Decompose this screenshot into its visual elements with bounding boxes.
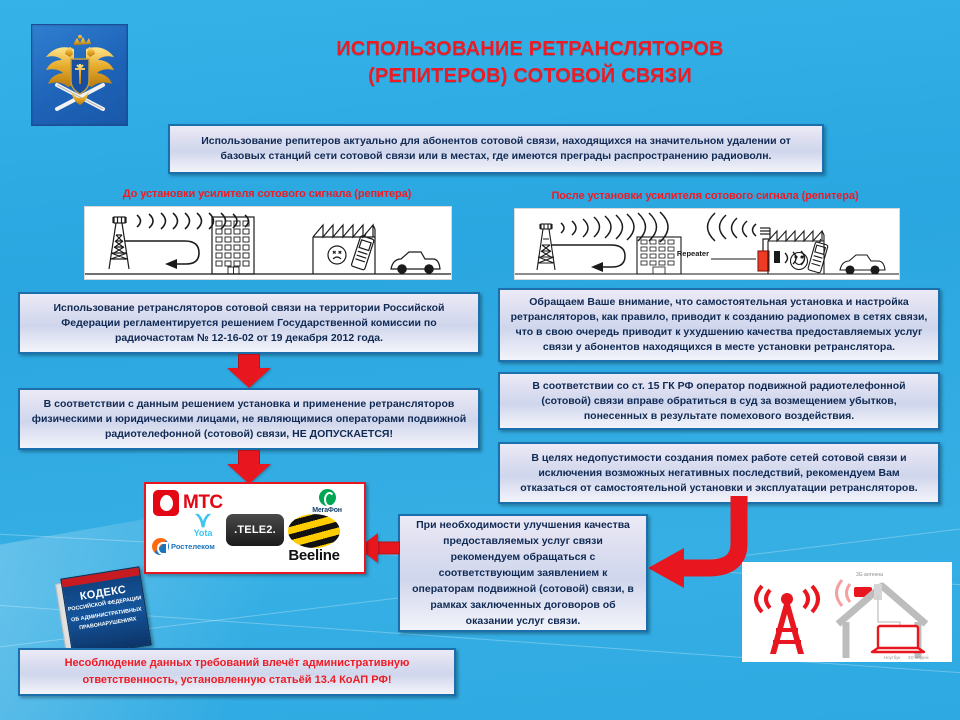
right-panel-recommendation-text: В целях недопустимости создания помех ра… — [509, 451, 929, 496]
administrative-code-book: КОДЕКС РОССИЙСКОЙ ФЕДЕРАЦИИ ОБ АДМИНИСТР… — [52, 570, 172, 652]
right-panel-interference: Обращаем Ваше внимание, что самостоятель… — [498, 288, 940, 362]
bottom-warning-text: Несоблюдение данных требований влечёт ад… — [29, 655, 445, 689]
rostelecom-label: Ростелеком — [171, 542, 215, 551]
right-panel-civil-code: В соответствии со ст. 15 ГК РФ оператор … — [498, 372, 940, 430]
middle-panel-advice: При необходимости улучшения качества пре… — [398, 514, 648, 632]
yota-mark-icon: ⋎ — [178, 512, 228, 528]
poster-canvas: ИСПОЛЬЗОВАНИЕ РЕТРАНСЛЯТОРОВ (РЕПИТЕРОВ)… — [0, 0, 960, 720]
page-title-line1: ИСПОЛЬЗОВАНИЕ РЕТРАНСЛЯТОРОВ — [200, 36, 860, 63]
megafon-label: МегаФон — [296, 507, 358, 514]
page-title-line2: (РЕПИТЕРОВ) СОТОВОЙ СВЯЗИ — [200, 63, 860, 90]
page-title: ИСПОЛЬЗОВАНИЕ РЕТРАНСЛЯТОРОВ (РЕПИТЕРОВ)… — [200, 36, 860, 90]
modem-label: 3G модем — [908, 655, 928, 660]
arrow-down-1 — [214, 354, 284, 388]
antenna-label: 3G антенна — [856, 572, 883, 578]
left-panel-regulation: Использование ретрансляторов сотовой свя… — [18, 292, 480, 354]
beeline-logo: Beeline — [268, 514, 360, 564]
intro-text: Использование репитеров актуально для аб… — [179, 134, 813, 164]
megafon-logo: МегаФон — [296, 489, 358, 514]
diagram-after-repeater: Repeater — [514, 208, 900, 280]
left-panel-prohibition-text: В соответствии с данным решением установ… — [29, 397, 469, 442]
repeater-label: Repeater — [677, 249, 709, 258]
yota-label: Yota — [178, 528, 228, 538]
left-panel-regulation-text: Использование ретрансляторов сотовой свя… — [29, 301, 469, 346]
roskomnadzor-emblem-icon — [31, 24, 128, 126]
rostelecom-logo: Ростелеком — [152, 538, 215, 555]
operator-logos-panel: МТС МегаФон .TELE2. ⋎ Yota Ростелеком Be… — [144, 482, 366, 574]
laptop-label: Ноутбук — [884, 655, 900, 660]
megafon-mark-icon — [319, 489, 336, 506]
left-panel-prohibition: В соответствии с данным решением установ… — [18, 388, 480, 450]
book-cover: КОДЕКС РОССИЙСКОЙ ФЕДЕРАЦИИ ОБ АДМИНИСТР… — [60, 566, 152, 658]
mts-egg-icon — [153, 490, 179, 516]
arrow-down-2 — [214, 450, 284, 484]
diagram-left-heading: До установки усилителя сотового сигнала … — [84, 188, 450, 200]
diagram-right-heading: После установки усилителя сотового сигна… — [512, 190, 898, 202]
intro-panel: Использование репитеров актуально для аб… — [168, 124, 824, 174]
right-panel-civil-code-text: В соответствии со ст. 15 ГК РФ оператор … — [509, 379, 929, 424]
beeline-mark-icon — [288, 514, 340, 548]
repeater-house-illustration: 3G антенна Ноутбук 3G модем — [742, 562, 952, 662]
right-panel-interference-text: Обращаем Ваше внимание, что самостоятель… — [509, 295, 929, 355]
yota-logo: ⋎ Yota — [178, 512, 228, 538]
bottom-warning-panel: Несоблюдение данных требований влечёт ад… — [18, 648, 456, 696]
diagram-before-repeater — [84, 206, 452, 280]
middle-panel-advice-text: При необходимости улучшения качества пре… — [409, 517, 637, 629]
beeline-label: Beeline — [268, 547, 360, 564]
rostelecom-mark-icon — [152, 538, 169, 555]
